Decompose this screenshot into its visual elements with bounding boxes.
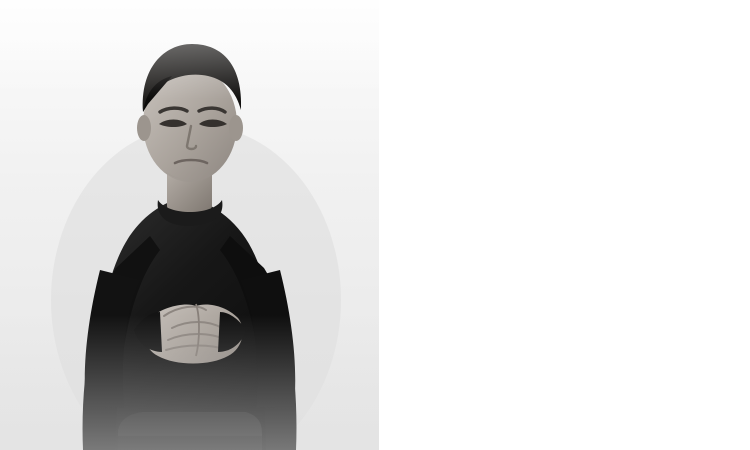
plan-poster: FOUR-ONE-ONE ENTERTAINMENT 2020 PLAN FEB…	[0, 0, 750, 450]
photo-vignette	[0, 0, 379, 450]
artist-photo	[0, 0, 379, 450]
plan-panel: FOUR-ONE-ONE ENTERTAINMENT 2020 PLAN FEB…	[379, 0, 750, 450]
